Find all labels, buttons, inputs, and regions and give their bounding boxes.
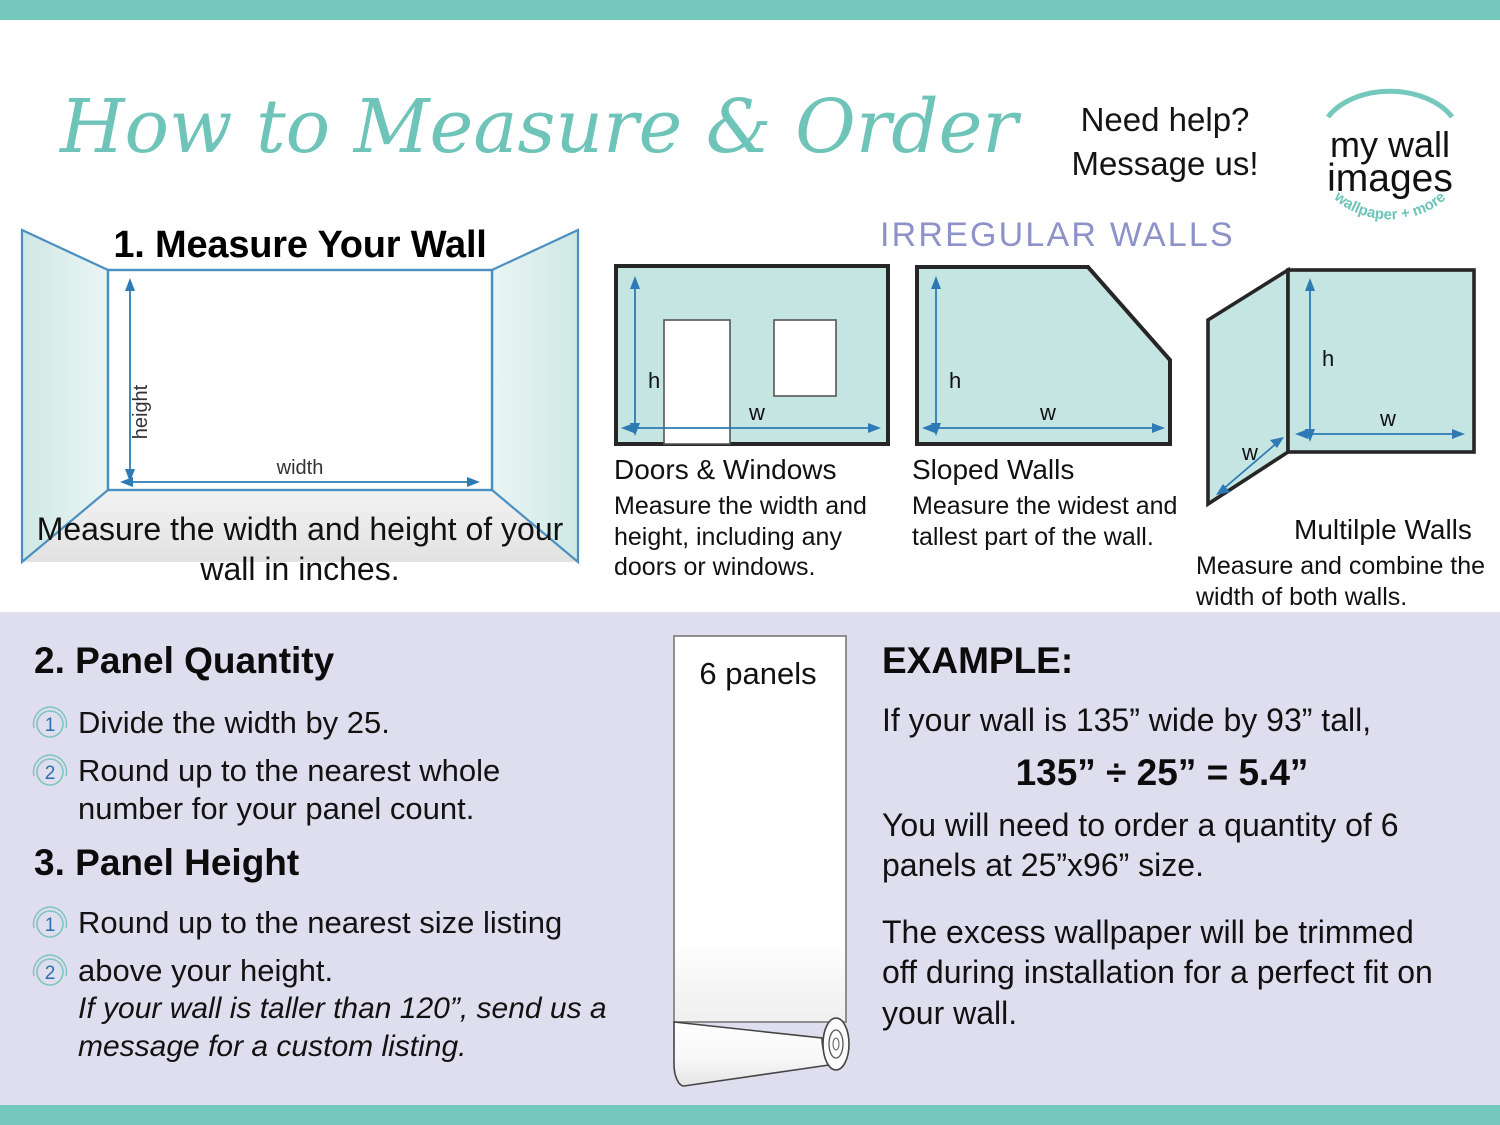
panel-doors-windows: h w Doors & Windows Measure the width an… <box>612 262 897 583</box>
logo-arc-icon <box>1328 91 1452 117</box>
example-title: EXAMPLE: <box>882 640 1073 682</box>
sloped-wall-diagram: h w <box>912 262 1177 452</box>
header: How to Measure & Order Need help? Messag… <box>0 20 1500 210</box>
panel-height-note: If your wall is taller than 120”, send u… <box>78 990 618 1067</box>
step-text: Divide the width by 25. <box>78 704 390 742</box>
example-line3: The excess wallpaper will be trimmed off… <box>882 912 1452 1033</box>
step-number: 2 <box>45 763 56 784</box>
w-label: w <box>1039 400 1056 425</box>
quantity-step-2: 2 Round up to the nearest whole number f… <box>28 752 588 828</box>
panel-quantity-title: 2. Panel Quantity <box>34 640 334 682</box>
example-line1: If your wall is 135” wide by 93” tall, <box>882 702 1462 739</box>
top-accent-bar <box>0 0 1500 20</box>
need-help-line2: Message us! <box>1055 142 1275 186</box>
page-title: How to Measure & Order <box>60 60 1020 190</box>
roll-end-cap <box>823 1018 849 1070</box>
step-badge-1: 1 <box>28 902 72 946</box>
door-rect <box>664 320 730 444</box>
step-text: Round up to the nearest size listing <box>78 904 562 942</box>
section1-title: 1. Measure Your Wall <box>0 224 600 267</box>
w-label: w <box>1379 406 1396 431</box>
multiple-walls-diagram: h w w <box>1196 262 1496 512</box>
window-rect <box>774 320 836 396</box>
need-help-line1: Need help? <box>1055 98 1275 142</box>
measure-wall-section: height width 1. Measure Your Wall Measur… <box>0 212 600 597</box>
step-badge-2: 2 <box>28 750 72 794</box>
step-number: 1 <box>45 915 56 936</box>
bottom-accent-bar <box>0 1105 1500 1125</box>
page-title-text: How to Measure & Order <box>58 84 1022 170</box>
panel-desc: Measure the widest and tallest part of t… <box>912 491 1182 552</box>
adjacent-wall <box>1208 270 1288 504</box>
step-number: 2 <box>45 963 56 984</box>
doors-windows-diagram: h w <box>612 262 892 452</box>
height-step-2: 2 above your height. <box>28 952 608 994</box>
panel-height-title: 3. Panel Height <box>34 842 299 884</box>
h-label: h <box>648 368 660 393</box>
h-label: h <box>949 368 961 393</box>
panel-sloped-walls: h w Sloped Walls Measure the widest and … <box>912 262 1182 552</box>
roll-curl <box>674 1022 836 1086</box>
w-label: w <box>748 400 765 425</box>
width-label: width <box>276 457 324 479</box>
step-number: 1 <box>45 715 56 736</box>
lower-section: 2. Panel Quantity 1 Divide the width by … <box>0 612 1500 1105</box>
irregular-walls-header: IRREGULAR WALLS <box>880 216 1235 255</box>
panel-name: Doors & Windows <box>614 454 897 486</box>
panel-name: Multilple Walls <box>1294 514 1496 546</box>
w2-label: w <box>1241 440 1258 465</box>
example-line2: You will need to order a quantity of 6 p… <box>882 806 1452 885</box>
height-step-1: 1 Round up to the nearest size listing <box>28 904 608 946</box>
brand-logo: my wall images wallpaper + more <box>1300 65 1480 220</box>
height-label: height <box>130 384 152 439</box>
panel-multiple-walls: h w w Multilple Walls Measure and combin… <box>1196 262 1496 612</box>
step-badge-1: 1 <box>28 702 72 746</box>
quantity-step-1: 1 Divide the width by 25. <box>28 704 588 746</box>
example-equation: 135” ÷ 25” = 5.4” <box>882 752 1442 794</box>
section1-caption: Measure the width and height of your wal… <box>20 509 580 589</box>
wallpaper-roll-illustration: 6 panels <box>668 632 868 1097</box>
step-text: above your height. <box>78 952 333 990</box>
panel-desc: Measure the width and height, including … <box>614 491 897 583</box>
h-label: h <box>1322 346 1334 371</box>
panel-desc: Measure and combine the width of both wa… <box>1196 551 1496 612</box>
roll-label: 6 panels <box>668 656 848 692</box>
roll-sheet <box>674 636 846 1022</box>
panel-name: Sloped Walls <box>912 454 1182 486</box>
step-badge-2: 2 <box>28 950 72 994</box>
step-text: Round up to the nearest whole number for… <box>78 752 588 828</box>
need-help-block: Need help? Message us! <box>1055 98 1275 185</box>
